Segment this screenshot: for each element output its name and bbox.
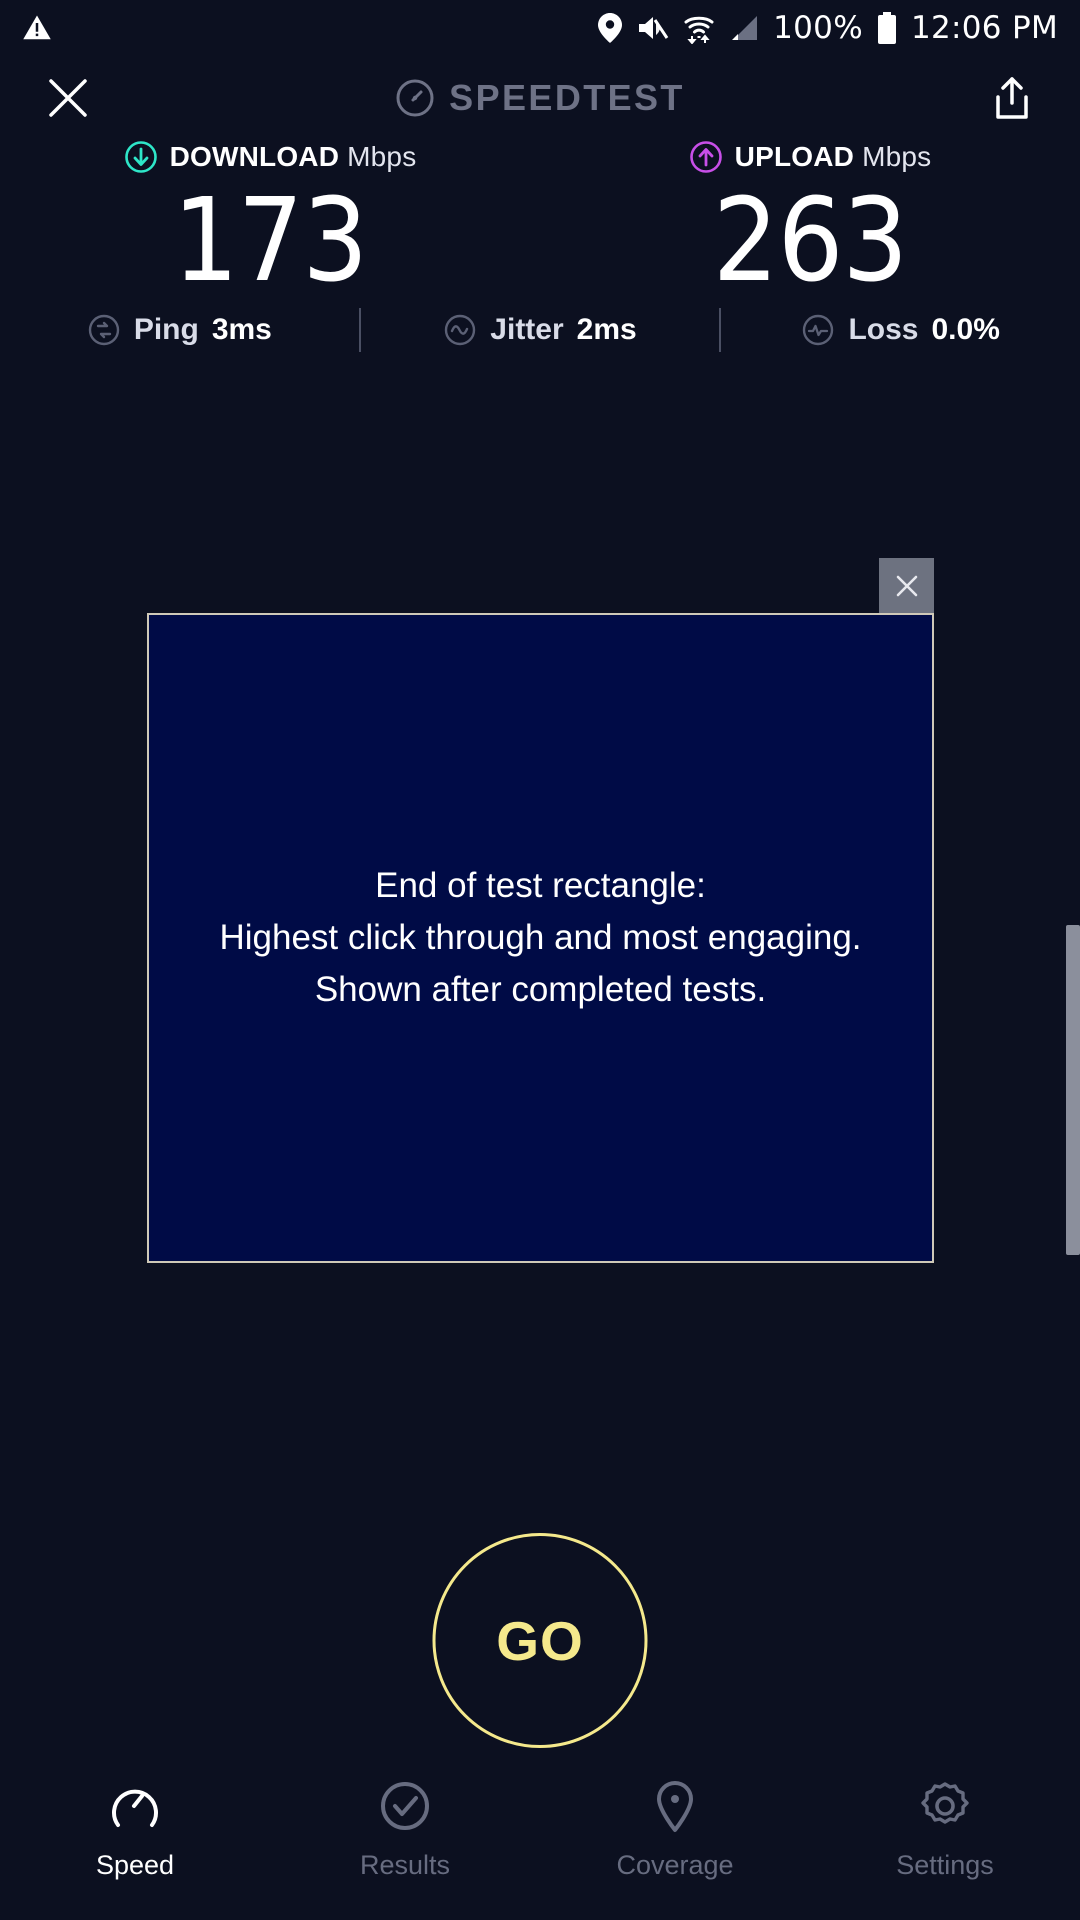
upload-label: UPLOAD Mbps	[735, 141, 932, 173]
location-pin-icon	[597, 13, 623, 43]
bottom-navigation: Speed Results Coverage	[0, 1760, 1080, 1920]
ad-banner[interactable]: End of test rectangle: Highest click thr…	[147, 613, 934, 1263]
status-bar: 100% 12:06 PM	[0, 0, 1080, 56]
upload-metric: UPLOAD Mbps 263	[540, 140, 1080, 299]
nav-label-speed: Speed	[96, 1850, 174, 1881]
close-button[interactable]	[40, 70, 96, 126]
gear-icon	[917, 1778, 973, 1834]
battery-percent-label: 100%	[773, 10, 863, 46]
cell-signal-icon	[729, 14, 759, 42]
map-pin-icon	[647, 1778, 703, 1834]
stat-loss-value: 0.0%	[932, 313, 1000, 347]
ping-icon	[87, 313, 121, 347]
stat-ping: Ping 3ms	[0, 313, 359, 347]
nav-label-coverage: Coverage	[616, 1850, 733, 1881]
app-header: SPEEDTEST	[0, 56, 1080, 140]
ad-close-button[interactable]	[879, 558, 934, 613]
stat-ping-label: Ping	[134, 313, 199, 347]
speedtest-app-screen: 100% 12:06 PM	[0, 0, 1080, 1920]
stat-jitter: Jitter 2ms	[361, 313, 720, 347]
speedometer-icon	[107, 1778, 163, 1834]
stat-jitter-value: 2ms	[577, 313, 637, 347]
ad-text: End of test rectangle: Highest click thr…	[199, 860, 881, 1015]
ad-line-3: Shown after completed tests.	[219, 964, 861, 1016]
status-bar-right: 100% 12:06 PM	[597, 10, 1058, 46]
status-bar-left	[22, 13, 52, 43]
ad-line-2: Highest click through and most engaging.	[219, 912, 861, 964]
nav-label-results: Results	[360, 1850, 450, 1881]
go-button[interactable]: GO	[433, 1533, 648, 1748]
nav-item-speed[interactable]: Speed	[0, 1778, 270, 1881]
advertisement-container: End of test rectangle: Highest click thr…	[147, 613, 934, 1263]
mute-icon	[637, 14, 669, 42]
close-icon	[45, 75, 91, 121]
battery-icon	[877, 12, 897, 44]
status-bar-clock: 12:06 PM	[911, 10, 1058, 46]
nav-label-settings: Settings	[896, 1850, 994, 1881]
download-upload-row: DOWNLOAD Mbps 173 UPLOAD Mbps 263	[0, 140, 1080, 299]
warning-triangle-icon	[22, 13, 52, 43]
stat-loss: Loss 0.0%	[721, 313, 1080, 347]
share-button[interactable]	[984, 70, 1040, 126]
upload-arrow-icon	[689, 140, 723, 174]
download-label: DOWNLOAD Mbps	[170, 141, 417, 173]
download-metric: DOWNLOAD Mbps 173	[0, 140, 540, 299]
upload-header: UPLOAD Mbps	[689, 140, 932, 174]
stat-loss-label: Loss	[848, 313, 918, 347]
network-stats-row: Ping 3ms Jitter 2ms Loss 0.0%	[0, 300, 1080, 360]
upload-value: 263	[713, 184, 907, 299]
stat-jitter-label: Jitter	[490, 313, 563, 347]
nav-item-settings[interactable]: Settings	[810, 1778, 1080, 1881]
ad-line-1: End of test rectangle:	[219, 860, 861, 912]
stat-ping-value: 3ms	[212, 313, 272, 347]
download-header: DOWNLOAD Mbps	[124, 140, 417, 174]
brand-logo: SPEEDTEST	[0, 56, 1080, 140]
nav-item-coverage[interactable]: Coverage	[540, 1778, 810, 1881]
check-circle-icon	[377, 1778, 433, 1834]
download-value: 173	[173, 184, 367, 299]
results-panel: DOWNLOAD Mbps 173 UPLOAD Mbps 263	[0, 140, 1080, 299]
speedometer-logo-icon	[395, 78, 435, 118]
page-scrollbar[interactable]	[1066, 925, 1080, 1255]
loss-icon	[801, 313, 835, 347]
nav-item-results[interactable]: Results	[270, 1778, 540, 1881]
download-arrow-icon	[124, 140, 158, 174]
ad-close-icon	[893, 572, 921, 600]
jitter-icon	[443, 313, 477, 347]
brand-title: SPEEDTEST	[449, 77, 685, 119]
wifi-icon	[683, 12, 715, 44]
share-icon	[991, 75, 1033, 121]
go-button-label: GO	[496, 1609, 584, 1673]
